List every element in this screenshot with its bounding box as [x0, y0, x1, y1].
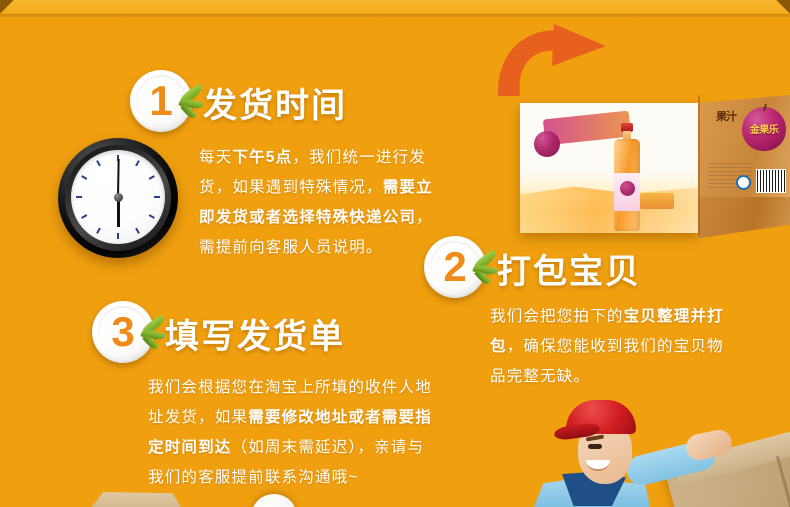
clock-tick: [149, 175, 155, 180]
carton-edge-seam: [698, 95, 700, 235]
section-heading-3: 填写发货单: [165, 309, 345, 358]
clock-minute-hand: [117, 159, 120, 197]
body-line: 包，确保您能收到我们的宝贝物: [490, 332, 740, 362]
quality-s-mark-icon: [736, 175, 751, 190]
section-body-1: 每天下午5点，我们统一进行发货，如果遇到特殊情况，需要立即发货或者选择特殊快递公…: [199, 143, 444, 263]
clock-tick: [149, 214, 155, 219]
clock-hub: [114, 193, 123, 202]
carton-volume-badge: [640, 193, 674, 209]
clock-tick: [76, 196, 82, 198]
body-line: 我们会根据您在淘宝上所填的收件人地: [148, 373, 453, 403]
section-heading-2: 打包宝贝: [497, 244, 641, 293]
ribbon-notch-left: [0, 0, 16, 14]
section-body-3: 我们会根据您在淘宝上所填的收件人地址发货，如果需要修改地址或者需要指定时间到达（…: [148, 373, 453, 493]
section-heading-1: 发货时间: [203, 78, 347, 127]
next-section-badge-peek: [252, 494, 296, 507]
section-body-2: 我们会把您拍下的宝贝整理并打包，确保您能收到我们的宝贝物品完整无缺。: [490, 302, 740, 392]
ribbon-notch-right: [774, 0, 790, 14]
clock-tick: [117, 233, 119, 239]
ribbon-shadow: [0, 14, 790, 18]
clock-tick: [135, 160, 140, 166]
body-line: 每天下午5点，我们统一进行发: [199, 143, 444, 173]
carton-front-apple-icon: [534, 131, 560, 157]
clock-face: [71, 150, 165, 244]
body-line: 需提前向客服人员说明。: [199, 233, 444, 263]
carton-side-lower-panel: [698, 197, 790, 245]
section-badge-3: 3: [92, 301, 154, 363]
body-line: 品完整无缺。: [490, 362, 740, 392]
clock-hour-hand: [117, 197, 120, 227]
body-line: 货，如果遇到特殊情况，需要立: [199, 173, 444, 203]
top-ribbon-band: [0, 0, 790, 14]
bottle-label: [614, 173, 640, 211]
body-line: 定时间到达（如周末需延迟），亲请与: [148, 433, 453, 463]
juice-bottle-icon: [612, 123, 642, 233]
delivery-worker-image: [528, 392, 790, 507]
carton-brand-logo: 果汁: [716, 113, 736, 122]
worker-eye: [588, 444, 602, 449]
carton-barcode: [756, 169, 786, 193]
clock-tick: [81, 175, 87, 180]
curved-arrow-icon: [494, 22, 614, 100]
promo-banner: 1 发货时间 每天下午5点，我们统一进行发货，如果遇到特殊情况，需要立即发货或者…: [0, 0, 790, 507]
carton-brand-name: 金果乐: [742, 121, 786, 136]
section-badge-2: 2: [424, 236, 486, 298]
body-line: 我们的客服提前联系沟通哦~: [148, 463, 453, 493]
section-badge-1: 1: [130, 70, 192, 132]
juice-carton-image: 果汁 金果乐: [520, 95, 790, 245]
body-line: 即发货或者选择特殊快递公司，: [199, 203, 444, 233]
body-line: 址发货，如果需要修改地址或者需要指: [148, 403, 453, 433]
clock-tick: [154, 196, 160, 198]
analog-clock-icon: [58, 138, 178, 258]
next-section-box-peek: [88, 492, 184, 507]
clock-tick: [96, 228, 101, 234]
clock-tick: [96, 160, 101, 166]
body-line: 我们会把您拍下的宝贝整理并打: [490, 302, 740, 332]
clock-tick: [81, 214, 87, 219]
clock-tick: [135, 228, 140, 234]
